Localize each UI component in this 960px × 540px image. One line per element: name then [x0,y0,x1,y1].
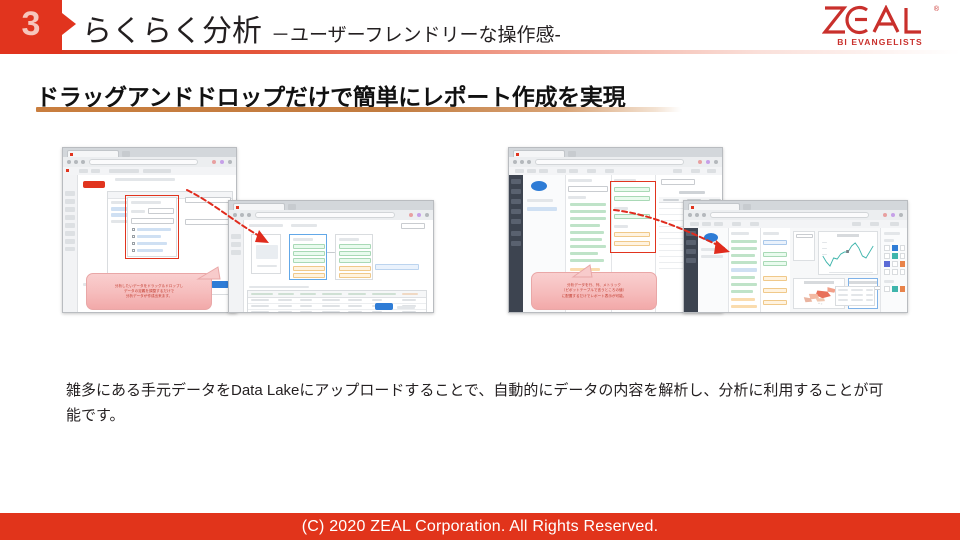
palette-group [884,239,894,242]
tooltip-cell [851,294,863,296]
highlight-box [125,195,179,259]
grid-cell [348,299,362,301]
toolbar-button[interactable] [527,169,536,173]
field-item-selected[interactable] [731,268,757,272]
grid-cell [300,299,312,301]
bookmark-icon[interactable] [212,160,216,164]
sidebar-item[interactable] [65,231,75,236]
bookmark-item[interactable] [91,169,100,173]
field-chip[interactable] [339,244,371,249]
browser-tabbar [509,148,722,157]
line-chart-plot [821,240,875,268]
sidebar-item[interactable] [65,215,75,220]
logo-tagline: BI EVANGELISTS [822,37,938,47]
grid-cell [300,311,312,313]
forward-icon[interactable] [74,160,78,164]
viz-type-icon[interactable] [900,269,905,275]
panel-title [763,232,779,235]
grid-cell [322,299,340,301]
filter-select[interactable] [661,179,695,185]
panel-title [568,179,592,182]
footer-bar: (C) 2020 ZEAL Corporation. All Rights Re… [0,513,960,540]
avatar [531,181,547,191]
field-chip[interactable] [293,273,325,278]
bookmark-item[interactable] [109,169,139,173]
dashboard-canvas [790,228,881,312]
grid-caption [249,286,309,288]
toolbar-button[interactable] [852,222,861,226]
connector-line [327,252,335,253]
window-controls[interactable] [211,150,233,155]
field-chip[interactable] [339,258,371,263]
viz-type-icon[interactable] [884,269,890,275]
viz-type-icon[interactable] [892,245,898,251]
page-title: らくらく分析－ユーザーフレンドリーな操作感- [82,6,561,50]
slide-number-text: 3 [0,0,62,49]
grid-cell [322,311,340,313]
search-input[interactable] [568,186,608,192]
grid-header-cell [322,293,342,295]
layout-chip[interactable] [763,288,787,293]
menu-icon[interactable] [714,160,718,164]
app-sidebar [509,175,524,312]
zeal-wordmark-icon [822,5,926,35]
primary-action-button[interactable] [83,181,105,188]
viz-type-icon[interactable] [884,253,890,259]
group-label [568,196,586,199]
caption [257,265,277,267]
callout-left: 分析したいデータをドラッグ＆ドロップし データの定義を調整するだけで 分析データ… [86,273,212,310]
dialog-title [115,178,175,181]
app-sidebar [63,175,78,312]
extension-icon[interactable] [706,160,710,164]
field-item[interactable] [731,290,753,293]
field-item[interactable] [570,259,604,262]
sidebar-item[interactable] [65,207,75,212]
tooltip-cell [866,299,873,301]
grid-cell [278,299,292,301]
sidebar-item[interactable] [65,223,75,228]
grid-cell [348,311,362,313]
grid-cell [300,305,312,307]
bookmark-icon[interactable] [698,160,702,164]
viz-type-icon[interactable] [884,245,890,251]
tree-label [527,199,553,202]
back-icon[interactable] [513,160,517,164]
toolbar-button[interactable] [539,169,548,173]
tooltip-cell [866,294,873,296]
new-tab-button[interactable] [122,151,130,157]
field-chip[interactable] [339,251,371,256]
field-item[interactable] [570,217,606,220]
browser-tab[interactable] [513,150,565,158]
menu-icon[interactable] [425,213,429,217]
header-rule-cap [0,49,62,54]
extension-icon[interactable] [417,213,421,217]
slide-header: 3 らくらく分析－ユーザーフレンドリーな操作感- ® BI EVANGELIST… [0,0,960,52]
bookmark-item[interactable] [143,169,171,173]
line-chart-card [818,231,878,275]
layout-chip[interactable] [763,300,787,305]
panel-title [339,238,359,241]
chart-title [819,234,877,237]
section-heading: ドラッグアンドドロップだけで簡単にレポート作成を実現 [36,78,696,116]
callout-right-tail [570,264,596,278]
sidebar-item[interactable] [511,199,521,204]
map-tooltip [835,286,875,306]
field-item[interactable] [570,210,606,213]
viz-type-icon[interactable] [884,286,890,292]
callout-line: 分析データが作成出来ます。 [126,294,172,299]
toolbar-button[interactable] [557,169,566,173]
grid-cell [402,311,416,313]
field-chip[interactable] [339,273,371,278]
field-item[interactable] [570,203,606,206]
dashboard-layout-panel [760,228,791,312]
y-axis-tick [822,242,827,243]
grid-header-cell [372,293,396,295]
page-subtitle: －ユーザーフレンドリーな操作感- [271,25,561,46]
grid-cell [372,299,382,301]
tree-item[interactable] [527,207,557,211]
viz-type-icon[interactable] [892,269,898,275]
browser-tab[interactable] [67,150,119,158]
flow-arrow-right [612,200,762,262]
tooltip-cell [838,294,848,296]
palette-title [884,232,900,235]
toolbar-button[interactable] [587,169,596,173]
sidebar-item[interactable] [511,189,521,194]
field-item[interactable] [570,231,604,234]
reload-icon[interactable] [527,160,531,164]
callout-left-text: 分析したいデータをドラッグ＆ドロップし データの定義を調整するだけで 分析データ… [87,274,211,309]
field-chip[interactable] [339,266,371,271]
toolbar-button[interactable] [569,169,578,173]
field-list-panel-target[interactable] [335,234,373,280]
grid-cell [348,305,362,307]
slide: 3 らくらく分析－ユーザーフレンドリーな操作感- ® BI EVANGELIST… [0,0,960,540]
zeal-logo: ® BI EVANGELISTS [822,5,942,51]
bookmark-item[interactable] [79,169,88,173]
info-box [375,264,419,270]
bookmark-icon[interactable] [883,213,887,217]
grid-cell [251,311,269,313]
grid-header-cell [251,293,273,295]
viz-type-icon[interactable] [900,245,905,251]
grid-cell [251,305,269,307]
app-logo-icon [66,169,69,172]
report-title [679,191,705,194]
visualization-palette [880,228,907,312]
sidebar-item[interactable] [511,219,521,224]
window-controls[interactable] [882,203,904,208]
chart-title [849,281,877,284]
body-paragraph: 雑多にある手元データをData Lakeにアップロードすることで、自動的にデータ… [66,378,896,428]
metric-item[interactable] [731,305,757,308]
field-item[interactable] [731,283,757,286]
viz-type-icon[interactable] [900,286,905,292]
toolbar-button[interactable] [870,222,879,226]
field-item[interactable] [570,252,598,255]
window-controls[interactable] [697,150,719,155]
data-preview-grid [247,290,427,313]
chart-title [794,281,844,284]
grid-header-cell [278,293,294,295]
layout-chip[interactable] [763,276,787,281]
favicon-icon [70,153,73,156]
tooltip-cell [851,289,863,291]
field-chip[interactable] [293,266,325,271]
page-title-main: らくらく分析 [82,15,262,48]
field-item[interactable] [570,238,602,241]
layout-chip[interactable] [763,240,787,245]
grid-cell [372,311,382,313]
browser-tabbar [63,148,236,157]
toolbar-button[interactable] [691,169,700,173]
flow-arrow-left [185,182,305,254]
copyright-text: (C) 2020 ZEAL Corporation. All Rights Re… [302,518,659,536]
badge-arrow-icon [62,13,76,35]
sidebar-item[interactable] [65,191,75,196]
menu-icon[interactable] [899,213,903,217]
sidebar-item[interactable] [65,247,75,251]
cancel-button[interactable] [397,306,415,309]
callout-line: に配置するだけでレポート表示が可能。 [562,294,627,299]
tooltip-cell [866,289,873,291]
grid-cell [278,305,292,307]
toolbar-button[interactable] [605,169,614,173]
toolbar-button[interactable] [515,169,524,173]
back-icon[interactable] [67,160,71,164]
favicon-icon [516,153,519,156]
sidebar-item[interactable] [65,239,75,244]
layout-chip[interactable] [763,252,787,257]
grid-cell [402,299,416,301]
toolbar-button[interactable] [707,169,716,173]
extension-icon[interactable] [891,213,895,217]
y-axis-tick [822,248,827,249]
search-input[interactable] [401,223,425,229]
grid-cell [278,311,292,313]
grid-header-cell [348,293,366,295]
tooltip-cell [838,299,848,301]
menu-icon[interactable] [228,160,232,164]
grid-cell [322,305,340,307]
section-heading-underline [36,107,681,112]
grid-header-cell [300,293,316,295]
viz-type-icon[interactable] [900,261,905,267]
sidebar-item[interactable] [65,199,75,204]
callout-right-text: 分析データを行、列、メトリック （ピボットテーブルで言うところの値） に配置する… [532,273,656,309]
viz-type-icon[interactable] [900,253,905,259]
new-tab-button[interactable] [568,151,576,157]
layout-chip[interactable] [763,261,787,266]
slide-number-badge: 3 [0,0,62,49]
grid-header-cell [402,293,418,295]
metric-item[interactable] [731,298,755,301]
x-axis-labels [829,272,873,273]
save-button[interactable] [375,303,393,310]
reload-icon[interactable] [81,160,85,164]
confirm-button[interactable] [211,281,229,288]
y-axis-tick [822,254,827,255]
sidebar-item[interactable] [511,241,521,246]
tooltip-cell [851,299,863,301]
field-item[interactable] [731,276,755,279]
toolbar-button[interactable] [890,222,899,226]
field-item[interactable] [570,245,606,248]
palette-group [884,280,894,283]
viz-type-icon[interactable] [892,286,898,292]
url-input[interactable] [89,159,198,165]
viz-type-icon[interactable] [892,261,898,267]
table-row [248,309,426,313]
field-item[interactable] [570,224,600,227]
sidebar-item[interactable] [511,231,521,236]
forward-icon[interactable] [520,160,524,164]
toolbar-button[interactable] [673,169,682,173]
callout-left-tail [196,266,222,280]
bookmark-icon[interactable] [409,213,413,217]
grid-cell [251,299,269,301]
field-chip[interactable] [293,258,325,263]
filter-select[interactable] [796,234,813,238]
sidebar-item[interactable] [511,209,521,214]
viz-type-icon[interactable] [892,253,898,259]
map-card-right [848,278,878,309]
extension-icon[interactable] [220,160,224,164]
viz-type-icon[interactable] [884,261,890,267]
filter-card[interactable] [793,231,815,261]
url-input[interactable] [535,159,684,165]
registered-mark-icon: ® [934,6,939,13]
window-controls[interactable] [408,203,430,208]
tooltip-cell [838,289,848,291]
sidebar-item[interactable] [511,179,521,184]
